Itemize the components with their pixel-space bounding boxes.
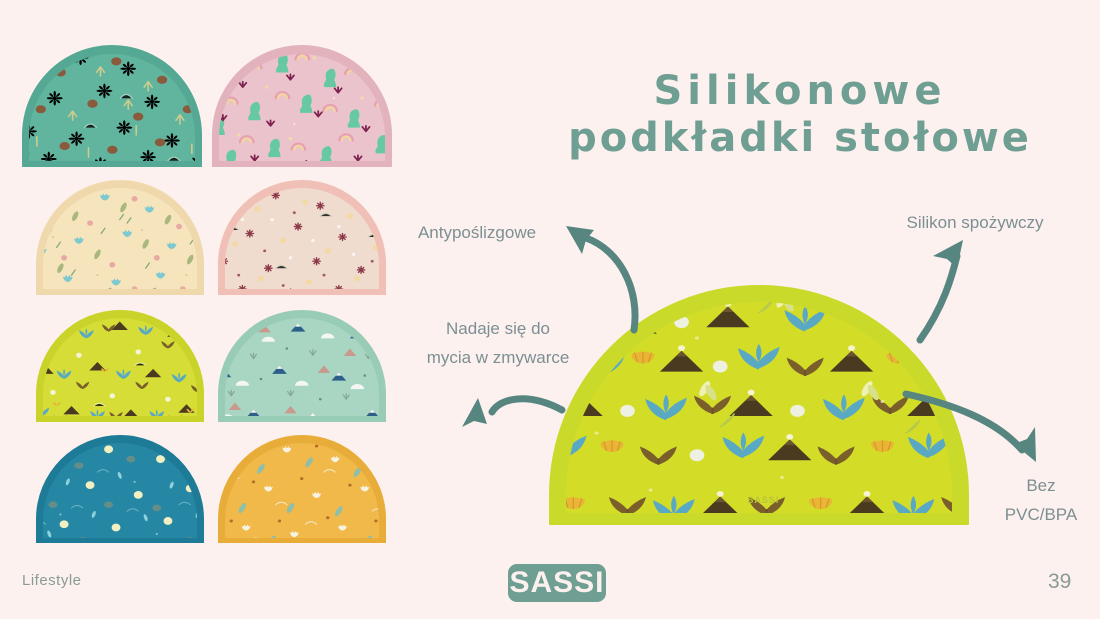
arrowhead-bez-pvc xyxy=(1014,427,1036,462)
brand-logo-text: SASSI xyxy=(509,566,604,600)
placemat-thumbnail-blush-stars[interactable] xyxy=(218,180,386,295)
featured-mat-inner-field: SASSI xyxy=(566,302,952,513)
mat-body xyxy=(36,310,204,422)
mat-inner-field xyxy=(225,188,380,289)
callout-bez-pvc-bpa: Bez PVC/BPA xyxy=(985,472,1097,530)
featured-mat-brand-mark: SASSI xyxy=(747,495,779,505)
placemat-thumbnail-jungle-lime[interactable] xyxy=(36,310,204,422)
mat-inner-field xyxy=(225,318,380,417)
pattern-shells-seaweed xyxy=(43,443,198,538)
mat-inner-field xyxy=(29,54,195,161)
mat-body xyxy=(218,310,386,422)
arrowhead-zmywarka xyxy=(462,398,487,427)
mat-inner-field xyxy=(43,443,198,538)
mat-body xyxy=(212,45,392,167)
placemat-thumbnail-dino-pink[interactable] xyxy=(212,45,392,167)
arrowhead-silikon xyxy=(933,240,963,268)
page-title-line-1: Silikonowe xyxy=(540,68,1060,115)
pattern-volcano-palms xyxy=(43,318,198,417)
mat-body xyxy=(218,435,386,543)
pattern-mushrooms-flowers xyxy=(29,54,195,161)
catalog-page: Silikonowe podkładki stołowe xyxy=(0,0,1100,619)
page-number: 39 xyxy=(1048,570,1071,594)
placemat-thumbnail-arctic-mint[interactable] xyxy=(218,310,386,422)
section-label: Lifestyle xyxy=(22,572,82,589)
brand-logo[interactable]: SASSI xyxy=(508,564,606,602)
mat-inner-field xyxy=(219,54,385,161)
pattern-flowers-leaves xyxy=(225,443,380,538)
pattern-small-stars-flowers xyxy=(225,188,380,289)
placemat-thumbnail-forest-teal[interactable] xyxy=(22,45,202,167)
callout-zmywarka: Nadaje się do mycia w zmywarce xyxy=(400,315,596,373)
mat-body xyxy=(218,180,386,295)
mat-body xyxy=(36,435,204,543)
page-title: Silikonowe podkładki stołowe xyxy=(540,68,1060,162)
featured-placemat[interactable]: SASSI xyxy=(549,285,969,525)
mat-inner-field xyxy=(43,318,198,417)
mat-inner-field xyxy=(225,443,380,538)
mat-inner-field xyxy=(43,188,198,289)
pattern-tulips-leaves xyxy=(43,188,198,289)
pattern-mountains-igloos xyxy=(225,318,380,417)
placemat-thumbnail-cream-floral[interactable] xyxy=(36,180,204,295)
pattern-dinosaurs-rainbows xyxy=(219,54,385,161)
callout-silikon-spozywczy: Silikon spożywczy xyxy=(880,209,1070,238)
featured-mat-body: SASSI xyxy=(549,285,969,525)
page-title-line-2: podkładki stołowe xyxy=(540,115,1060,162)
placemat-thumbnail-amber-floral[interactable] xyxy=(218,435,386,543)
mat-body xyxy=(22,45,202,167)
placemat-thumbnail-ocean-blue[interactable] xyxy=(36,435,204,543)
pattern-jungle-volcano xyxy=(566,302,952,513)
callout-antyposlizgowe: Antypoślizgowe xyxy=(382,219,572,248)
mat-body xyxy=(36,180,204,295)
